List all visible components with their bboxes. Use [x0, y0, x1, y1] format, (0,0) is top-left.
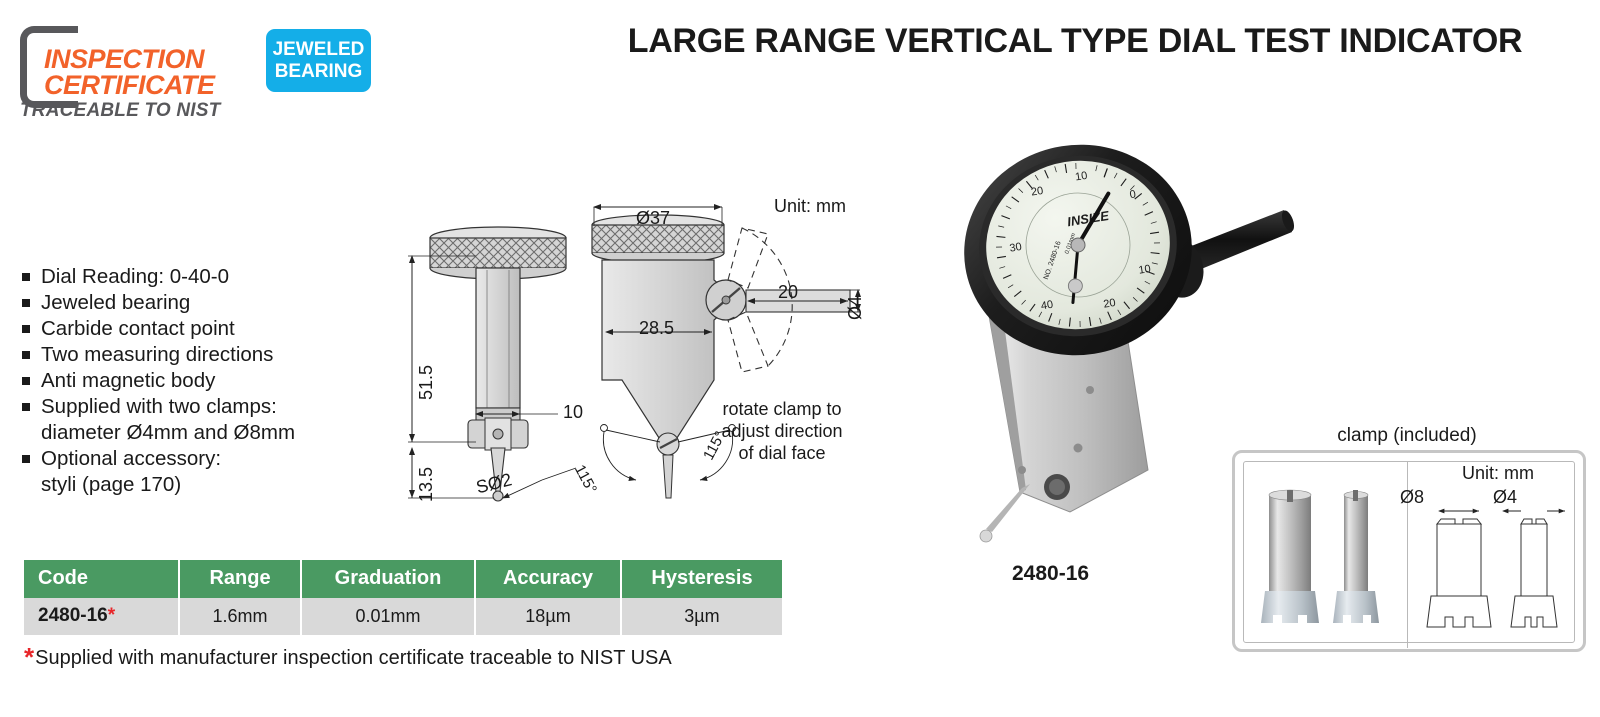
list-item: Jeweled bearing: [22, 290, 402, 316]
cell-code: 2480-16*: [24, 598, 179, 635]
dim-clamp-length: 20: [778, 282, 798, 303]
list-item: Two measuring directions: [22, 342, 402, 368]
list-item: Anti magnetic body: [22, 368, 402, 394]
product-code-caption: 2480-16: [1012, 562, 1089, 586]
product-datasheet-page: INSPECTION CERTIFICATE TRACEABLE TO NIST…: [0, 0, 1600, 717]
cell-code-text: 2480-16: [38, 605, 108, 626]
feature-text: Dial Reading: 0-40-0: [41, 264, 229, 290]
svg-text:40: 40: [1040, 299, 1054, 313]
feature-text: Jeweled bearing: [41, 290, 190, 316]
svg-text:10: 10: [1074, 170, 1088, 184]
specification-table: Code Range Graduation Accuracy Hysteresi…: [24, 560, 782, 635]
column-header-accuracy: Accuracy: [475, 560, 621, 598]
cert-logo-line1: INSPECTION: [44, 46, 204, 73]
clamp-unit-label: Unit: mm: [1462, 463, 1534, 484]
column-header-code: Code: [24, 560, 179, 598]
dim-body-width: 28.5: [639, 318, 674, 339]
list-item: Carbide contact point: [22, 316, 402, 342]
table-header-row: Code Range Graduation Accuracy Hysteresi…: [24, 560, 782, 598]
dim-clamp-diameter: Ø4: [845, 296, 866, 320]
feature-list: Dial Reading: 0-40-0 Jeweled bearing Car…: [22, 264, 402, 498]
badge-line1: JEWELED: [273, 39, 365, 61]
clamp-dim-small: Ø4: [1493, 487, 1517, 508]
list-item: Supplied with two clamps: diameter Ø4mm …: [22, 394, 402, 446]
clamp-panel-title: clamp (included): [1232, 425, 1582, 447]
rotate-clamp-note: rotate clamp to adjust direction of dial…: [716, 398, 848, 464]
footnote: *Supplied with manufacturer inspection c…: [24, 642, 672, 673]
square-bullet-icon: [22, 455, 30, 463]
dim-dial-diameter: Ø37: [636, 208, 670, 229]
feature-text: Carbide contact point: [41, 316, 235, 342]
cert-logo-line2: CERTIFICATE: [44, 72, 215, 99]
jeweled-bearing-badge: JEWELED BEARING: [266, 29, 371, 92]
square-bullet-icon: [22, 377, 30, 385]
svg-text:10: 10: [1138, 263, 1152, 277]
column-header-range: Range: [179, 560, 301, 598]
square-bullet-icon: [22, 403, 30, 411]
clamp-photos: [1249, 467, 1399, 635]
dim-stem-width: 10: [563, 402, 583, 423]
code-asterisk: *: [108, 605, 115, 626]
column-header-graduation: Graduation: [301, 560, 475, 598]
square-bullet-icon: [22, 351, 30, 359]
page-title: LARGE RANGE VERTICAL TYPE DIAL TEST INDI…: [560, 22, 1590, 61]
svg-text:30: 30: [1009, 241, 1023, 255]
square-bullet-icon: [22, 273, 30, 281]
footnote-text: Supplied with manufacturer inspection ce…: [35, 647, 672, 669]
drawing-unit-label: Unit: mm: [774, 196, 846, 217]
technical-drawing-group: [390, 180, 880, 520]
cell-hysteresis: 3µm: [621, 598, 782, 635]
cell-range: 1.6mm: [179, 598, 301, 635]
clamp-dim-large: Ø8: [1400, 487, 1424, 508]
cert-logo-line3: TRACEABLE TO NIST: [20, 100, 220, 122]
svg-text:20: 20: [1030, 185, 1044, 199]
square-bullet-icon: [22, 299, 30, 307]
square-bullet-icon: [22, 325, 30, 333]
clamp-dimension-drawings: [1415, 489, 1573, 635]
feature-text: Anti magnetic body: [41, 368, 215, 394]
footnote-asterisk: *: [24, 642, 34, 672]
dim-height-total: 51.5: [416, 365, 437, 400]
cell-graduation: 0.01mm: [301, 598, 475, 635]
feature-text: Supplied with two clamps: diameter Ø4mm …: [41, 394, 295, 446]
svg-text:20: 20: [1103, 297, 1117, 311]
column-header-hysteresis: Hysteresis: [621, 560, 782, 598]
badge-line2: BEARING: [275, 61, 363, 83]
feature-text: Optional accessory: styli (page 170): [41, 446, 221, 498]
list-item: Optional accessory: styli (page 170): [22, 446, 402, 498]
feature-text: Two measuring directions: [41, 342, 273, 368]
list-item: Dial Reading: 0-40-0: [22, 264, 402, 290]
inspection-certificate-logo: INSPECTION CERTIFICATE TRACEABLE TO NIST: [18, 24, 258, 116]
cell-accuracy: 18µm: [475, 598, 621, 635]
table-row: 2480-16* 1.6mm 0.01mm 18µm 3µm: [24, 598, 782, 635]
dim-height-lower: 13.5: [416, 467, 437, 502]
